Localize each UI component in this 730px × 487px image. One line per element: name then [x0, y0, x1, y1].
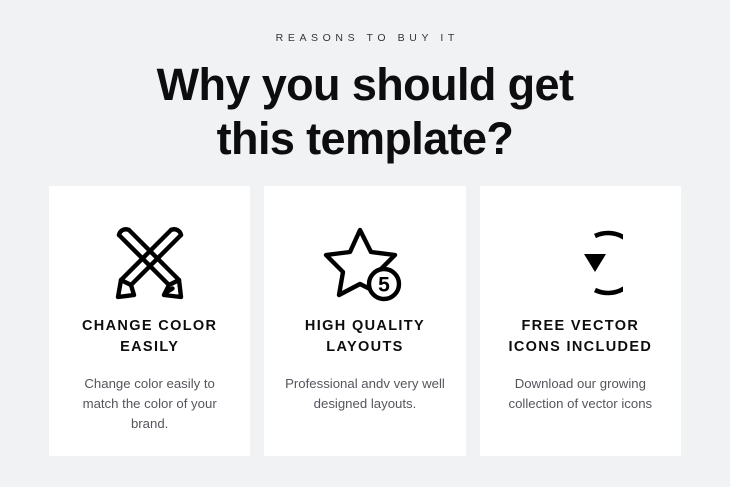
feature-card-list: Change color easily Change color easily … [49, 186, 681, 456]
feature-card-title: Free vector icons included [498, 316, 663, 357]
feature-card[interactable]: Free vector icons included Download our … [480, 186, 681, 456]
feature-card-description: Change color easily to match the color o… [69, 357, 231, 434]
star-badge-value: 5 [378, 274, 390, 297]
feature-card-title: Change color easily [67, 316, 232, 357]
star-rating-badge-five-icon: 5 [322, 212, 408, 316]
circular-refresh-arrow-icon [537, 212, 623, 316]
page-title: Why you should get this template? [130, 44, 600, 168]
feature-card-title: High quality layouts [282, 316, 447, 357]
section-header: Reasons to buy it Why you should get thi… [0, 0, 730, 167]
promo-section: Reasons to buy it Why you should get thi… [0, 0, 730, 487]
pencil-paintbrush-crossed-icon [107, 212, 193, 316]
feature-card-description: Professional andv very well designed lay… [284, 357, 446, 414]
feature-card[interactable]: 5 High quality layouts Professional andv… [264, 186, 465, 456]
feature-card-description: Download our growing collection of vecto… [499, 357, 661, 414]
feature-card[interactable]: Change color easily Change color easily … [49, 186, 250, 456]
eyebrow-text: Reasons to buy it [0, 33, 730, 44]
